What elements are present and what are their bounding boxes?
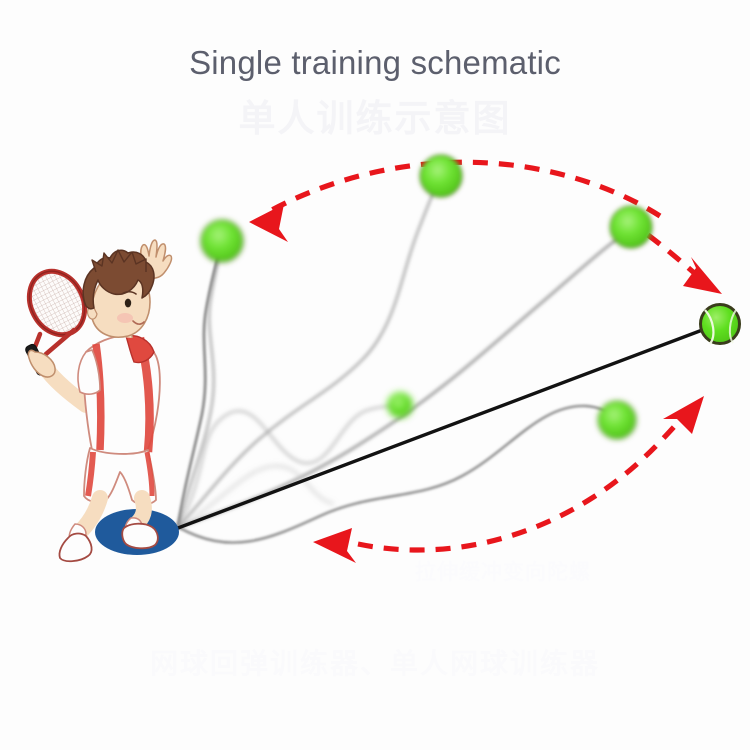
arrow-bottom-arc-head-left xyxy=(313,528,356,563)
cord-to-mid-small xyxy=(178,406,398,527)
player-head xyxy=(83,250,154,337)
player-shoe-front xyxy=(122,524,158,549)
ball-mid-small xyxy=(387,392,413,418)
arrow-right-descend-path xyxy=(648,235,700,278)
arrow-bottom-arc-path xyxy=(358,418,682,550)
watermark-bottom: 网球回弹训练器、单人网球训练器 xyxy=(0,642,750,682)
ball-main-right xyxy=(701,305,740,345)
player-cheek-blush xyxy=(117,313,133,323)
ball-top-center xyxy=(420,155,462,197)
player-shoe-back xyxy=(59,534,91,562)
player-right-hand xyxy=(28,350,55,377)
ball-upper-left xyxy=(201,220,243,262)
player-eye xyxy=(125,299,131,308)
ball-lower-right xyxy=(598,401,636,439)
training-schematic-illustration xyxy=(0,0,750,750)
tennis-balls xyxy=(201,155,740,439)
arrow-top-arc-head xyxy=(249,204,288,242)
tennis-player xyxy=(19,240,172,561)
arrow-top-arc-path xyxy=(268,162,660,216)
watermark-middle: 拉伸缓冲变向陀螺 xyxy=(415,556,591,586)
arrow-right-descend-head xyxy=(683,257,722,294)
ball-upper-right xyxy=(610,206,652,248)
schematic-canvas: Single training schematic 单人训练示意图 xyxy=(0,0,750,750)
